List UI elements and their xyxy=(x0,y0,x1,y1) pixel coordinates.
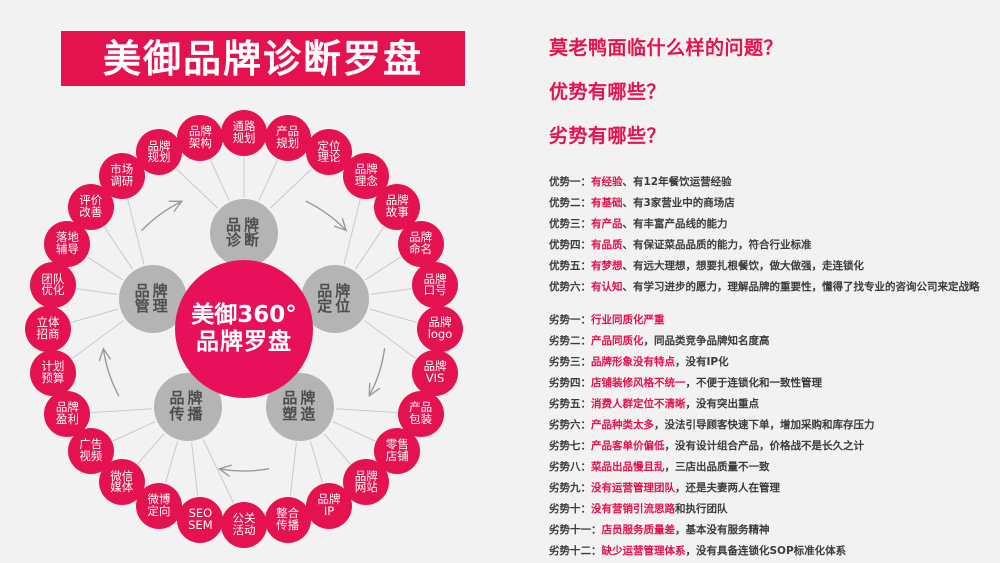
advantage-item-detail: 、有学习进步的愿力，理解品牌的重要性，懂得了找专业的咨询公司来定战略 xyxy=(623,281,980,293)
compass-center: 美御360°品牌罗盘 xyxy=(175,260,313,398)
advantage-item: 优势五：有梦想、有远大理想，想要扎根餐饮，做大做强，走连锁化 xyxy=(549,256,994,277)
disadvantage-item-label: 劣势十二： xyxy=(549,545,602,557)
disadvantage-item-highlight: 产品客单价偏低 xyxy=(591,440,665,452)
advantage-item-highlight: 有基础 xyxy=(591,197,623,209)
compass-outer-node[interactable]: 品牌 口号 xyxy=(412,262,458,308)
compass-outer-node[interactable]: 品牌 IP xyxy=(306,483,352,529)
disadvantage-item-highlight: 产品种类太多 xyxy=(591,419,654,431)
page-title: 美御品牌诊断罗盘 xyxy=(61,31,465,86)
disadvantage-item-detail: ，还是夫妻两人在管理 xyxy=(675,482,780,494)
compass-outer-node[interactable]: 品牌 规划 xyxy=(136,129,182,175)
disadvantage-item: 劣势一：行业同质化严重 xyxy=(549,310,994,331)
brand-compass-diagram: 通路 规划产品 规划定位 理论品牌 理念品牌 故事品牌 命名品牌 口号品牌 lo… xyxy=(10,95,480,563)
disadvantage-item-detail: ，没有具备连锁化SOP标准化体系 xyxy=(686,545,847,557)
disadvantage-item-highlight: 店铺装修风格不统一 xyxy=(591,377,686,389)
disadvantage-item-detail: ，同品类竞争品牌知名度高 xyxy=(644,335,770,347)
disadvantage-item-highlight: 没有运营管理团队 xyxy=(591,482,675,494)
advantage-item-highlight: 有品质 xyxy=(591,239,623,251)
analysis-panel: 莫老鸭面临什么样的问题？ 优势有哪些？ 劣势有哪些？ 优势一：有经验、有12年餐… xyxy=(549,0,994,563)
disadvantage-item-label: 劣势九： xyxy=(549,482,591,494)
question-disadvantages: 劣势有哪些？ xyxy=(549,121,666,148)
advantage-item-label: 优势六： xyxy=(549,281,591,293)
advantage-item-detail: 、有保证菜品品质的能力，符合行业标准 xyxy=(623,239,812,251)
compass-outer-node[interactable]: SEO SEM xyxy=(177,497,223,543)
disadvantage-item: 劣势十二：缺少运营管理体系，没有具备连锁化SOP标准化体系 xyxy=(549,541,994,562)
question-main: 莫老鸭面临什么样的问题？ xyxy=(549,33,783,60)
disadvantage-item-label: 劣势二： xyxy=(549,335,591,347)
advantage-item-detail: 、有12年餐饮运营经验 xyxy=(623,176,732,188)
slide-canvas: 美御品牌诊断罗盘 通路 规划产品 规划定位 理论品牌 理念品牌 故事品牌 命名品… xyxy=(0,0,1000,563)
advantage-item-label: 优势一： xyxy=(549,176,591,188)
disadvantage-item-label: 劣势十： xyxy=(549,503,591,515)
disadvantage-item-highlight: 店员服务质量差 xyxy=(602,524,676,536)
disadvantage-item: 劣势七：产品客单价偏低，没有设计组合产品，价格战不是长久之计 xyxy=(549,436,994,457)
compass-outer-node[interactable]: 通路 规划 xyxy=(221,110,267,156)
compass-outer-node[interactable]: 品牌 架构 xyxy=(177,115,223,161)
advantage-item-label: 优势四： xyxy=(549,239,591,251)
disadvantage-item-detail: ，三店出品质量不一致 xyxy=(665,461,770,473)
advantage-item-detail: 、有3家营业中的商场店 xyxy=(623,197,735,209)
compass-outer-node[interactable]: 公关 活动 xyxy=(221,502,267,548)
disadvantage-item-highlight: 缺少运营管理体系 xyxy=(602,545,686,557)
compass-outer-node[interactable]: 品牌 命名 xyxy=(398,221,444,267)
disadvantage-item-detail: ，没有设计组合产品，价格战不是长久之计 xyxy=(665,440,865,452)
compass-outer-node[interactable]: 立体 招商 xyxy=(25,306,71,352)
question-advantages: 优势有哪些？ xyxy=(549,77,666,104)
disadvantage-item-label: 劣势四： xyxy=(549,377,591,389)
advantage-item-highlight: 有认知 xyxy=(591,281,623,293)
disadvantage-item: 劣势十：没有营销引流思路和执行团队 xyxy=(549,499,994,520)
advantage-item-detail: 、有远大理想，想要扎根餐饮，做大做强，走连锁化 xyxy=(623,260,865,272)
disadvantage-item-highlight: 菜品出品慢且乱 xyxy=(591,461,665,473)
compass-outer-node[interactable]: 产品 规划 xyxy=(265,115,311,161)
advantage-item-highlight: 有梦想 xyxy=(591,260,623,272)
disadvantage-item-label: 劣势六： xyxy=(549,419,591,431)
advantage-item: 优势六：有认知、有学习进步的愿力，理解品牌的重要性，懂得了找专业的咨询公司来定战… xyxy=(549,277,994,298)
disadvantage-item-detail: 和执行团队 xyxy=(675,503,728,515)
disadvantage-item-detail: ，没法引导顾客快速下单，增加采购和库存压力 xyxy=(654,419,875,431)
disadvantage-item: 劣势十一：店员服务质量差，基本没有服务精神 xyxy=(549,520,994,541)
disadvantage-item-highlight: 消费人群定位不清晰 xyxy=(591,398,686,410)
advantage-item-label: 优势五： xyxy=(549,260,591,272)
disadvantage-item: 劣势三：品牌形象没有特点，没有IP化 xyxy=(549,352,994,373)
disadvantage-item: 劣势六：产品种类太多，没法引导顾客快速下单，增加采购和库存压力 xyxy=(549,415,994,436)
disadvantage-item: 劣势二：产品同质化，同品类竞争品牌知名度高 xyxy=(549,331,994,352)
disadvantage-item-label: 劣势十一： xyxy=(549,524,602,536)
disadvantage-item-detail: ，没有突出重点 xyxy=(686,398,760,410)
disadvantage-item-label: 劣势八： xyxy=(549,461,591,473)
compass-inner-node-brand-diagnosis[interactable]: 品牌 诊断 xyxy=(210,199,278,267)
advantage-item-highlight: 有产品 xyxy=(591,218,623,230)
advantage-item-label: 优势二： xyxy=(549,197,591,209)
advantage-item: 优势四：有品质、有保证菜品品质的能力，符合行业标准 xyxy=(549,235,994,256)
compass-outer-node[interactable]: 计划 预算 xyxy=(30,350,76,396)
disadvantage-item-detail: ，没有IP化 xyxy=(675,356,729,368)
advantage-item: 优势二：有基础、有3家营业中的商场店 xyxy=(549,193,994,214)
advantages-list: 优势一：有经验、有12年餐饮运营经验优势二：有基础、有3家营业中的商场店优势三：… xyxy=(549,172,994,298)
advantage-item-label: 优势三： xyxy=(549,218,591,230)
disadvantage-item-detail: ，不便于连锁化和一致性管理 xyxy=(686,377,823,389)
advantage-item-highlight: 有经验 xyxy=(591,176,623,188)
compass-outer-node[interactable]: 团队 优化 xyxy=(30,262,76,308)
disadvantage-item-label: 劣势七： xyxy=(549,440,591,452)
disadvantage-item-highlight: 品牌形象没有特点 xyxy=(591,356,675,368)
disadvantage-item: 劣势四：店铺装修风格不统一，不便于连锁化和一致性管理 xyxy=(549,373,994,394)
compass-center-line1: 美御360° xyxy=(191,304,297,327)
disadvantage-item-label: 劣势三： xyxy=(549,356,591,368)
disadvantage-item: 劣势八：菜品出品慢且乱，三店出品质量不一致 xyxy=(549,457,994,478)
compass-outer-node[interactable]: 整合 传播 xyxy=(265,497,311,543)
compass-outer-node[interactable]: 品牌 VIS xyxy=(412,350,458,396)
disadvantage-item: 劣势五：消费人群定位不清晰，没有突出重点 xyxy=(549,394,994,415)
disadvantage-item: 劣势九：没有运营管理团队，还是夫妻两人在管理 xyxy=(549,478,994,499)
disadvantages-list: 劣势一：行业同质化严重劣势二：产品同质化，同品类竞争品牌知名度高劣势三：品牌形象… xyxy=(549,310,994,562)
page-title-text: 美御品牌诊断罗盘 xyxy=(103,40,423,78)
advantage-item: 优势三：有产品、有丰富产品线的能力 xyxy=(549,214,994,235)
disadvantage-item-label: 劣势五： xyxy=(549,398,591,410)
disadvantage-item-highlight: 产品同质化 xyxy=(591,335,644,347)
compass-outer-node[interactable]: 品牌 logo xyxy=(417,306,463,352)
advantage-item: 优势一：有经验、有12年餐饮运营经验 xyxy=(549,172,994,193)
disadvantage-item-label: 劣势一： xyxy=(549,314,591,326)
disadvantage-item-detail: ，基本没有服务精神 xyxy=(675,524,770,536)
advantage-item-detail: 、有丰富产品线的能力 xyxy=(623,218,728,230)
compass-center-line2: 品牌罗盘 xyxy=(196,331,292,354)
disadvantage-item-highlight: 没有营销引流思路 xyxy=(591,503,675,515)
disadvantage-item-highlight: 行业同质化严重 xyxy=(591,314,665,326)
